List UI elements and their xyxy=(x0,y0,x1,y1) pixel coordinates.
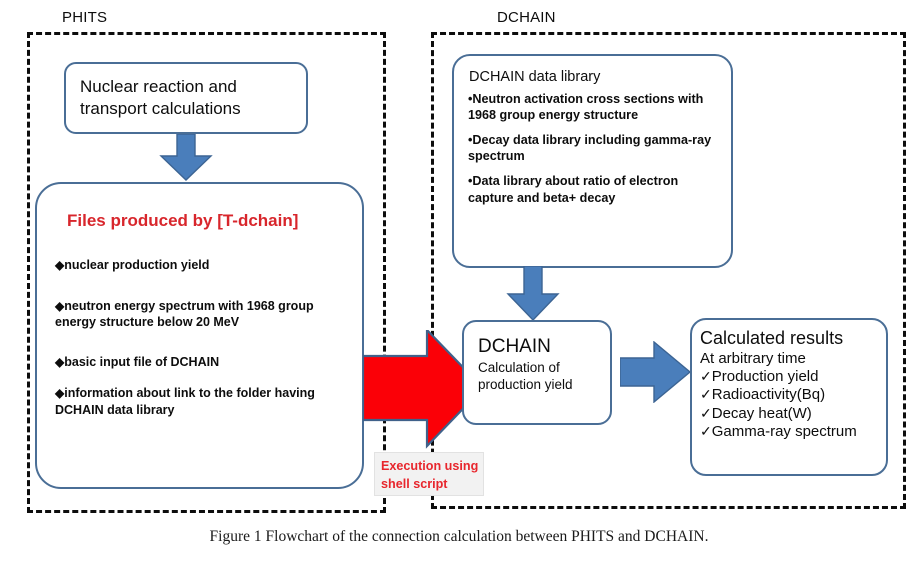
dchain-library-heading: DCHAIN data library xyxy=(469,69,719,85)
list-item: ◆neutron energy spectrum with 1968 group… xyxy=(55,298,346,331)
check-icon: ✓ xyxy=(700,368,712,384)
arrow-right-icon xyxy=(620,341,692,403)
list-item-label: Decay data library including gamma-ray s… xyxy=(468,133,711,163)
node-dchain-data-library: DCHAIN data library •Neutron activation … xyxy=(452,54,733,268)
list-item-label: neutron energy spectrum with 1968 group … xyxy=(55,299,314,330)
list-item: ◆information about link to the folder ha… xyxy=(55,385,346,418)
dchain-node-heading: DCHAIN xyxy=(478,336,610,358)
list-item: ◆nuclear production yield xyxy=(55,257,346,274)
execution-note-line2: shell script xyxy=(381,475,483,493)
list-item: ◆basic input file of DCHAIN xyxy=(55,354,346,371)
arrow-down-icon xyxy=(158,134,214,182)
list-item-label: Production yield xyxy=(712,368,819,385)
list-item-label: Gamma-ray spectrum xyxy=(712,423,857,440)
node-calculated-results: Calculated results At arbitrary time ✓Pr… xyxy=(690,318,888,476)
diamond-bullet-icon: ◆ xyxy=(55,299,64,313)
node-nuclear-reaction-line1: Nuclear reaction and xyxy=(80,76,292,98)
list-item-label: Decay heat(W) xyxy=(712,405,812,422)
list-item-label: nuclear production yield xyxy=(64,258,209,272)
list-item: ✓Radioactivity(Bq) xyxy=(700,386,886,405)
arrow-down-icon xyxy=(505,266,561,322)
dchain-library-list: •Neutron activation cross sections with … xyxy=(467,91,719,206)
node-dchain-calculation: DCHAIN Calculation of production yield xyxy=(462,320,612,425)
check-icon: ✓ xyxy=(700,405,712,421)
diamond-bullet-icon: ◆ xyxy=(55,386,64,400)
list-item-label: information about link to the folder hav… xyxy=(55,386,315,417)
list-item: ✓Gamma-ray spectrum xyxy=(700,423,886,442)
flowchart-canvas: PHITS DCHAIN Nuclear reaction and transp… xyxy=(0,0,918,570)
results-heading: Calculated results xyxy=(700,328,886,349)
files-produced-heading: Files produced by [T-dchain] xyxy=(67,211,346,231)
list-item-label: Radioactivity(Bq) xyxy=(712,386,825,403)
diamond-bullet-icon: ◆ xyxy=(55,258,64,272)
check-icon: ✓ xyxy=(700,386,712,402)
execution-note-line1: Execution using xyxy=(381,457,483,475)
list-item-label: basic input file of DCHAIN xyxy=(64,355,219,369)
check-icon: ✓ xyxy=(700,423,712,439)
dchain-node-subline1: Calculation of xyxy=(478,359,610,376)
node-files-produced: Files produced by [T-dchain] ◆nuclear pr… xyxy=(35,182,364,489)
list-item: •Data library about ratio of electron ca… xyxy=(468,173,719,205)
results-subheading: At arbitrary time xyxy=(700,350,886,368)
group-label-phits: PHITS xyxy=(62,9,107,26)
files-produced-list: ◆nuclear production yield ◆neutron energ… xyxy=(53,257,346,418)
list-item: ✓Production yield xyxy=(700,368,886,387)
execution-note: Execution using shell script xyxy=(374,452,484,496)
list-item-label: Data library about ratio of electron cap… xyxy=(468,174,678,204)
dchain-node-subline2: production yield xyxy=(478,376,610,393)
group-label-dchain: DCHAIN xyxy=(497,9,556,26)
list-item: ✓Decay heat(W) xyxy=(700,405,886,424)
diamond-bullet-icon: ◆ xyxy=(55,355,64,369)
results-list: ✓Production yield ✓Radioactivity(Bq) ✓De… xyxy=(700,368,886,442)
node-nuclear-reaction-line2: transport calculations xyxy=(80,98,292,120)
list-item-label: Neutron activation cross sections with 1… xyxy=(468,92,703,122)
list-item: •Neutron activation cross sections with … xyxy=(468,91,719,123)
list-item: •Decay data library including gamma-ray … xyxy=(468,132,719,164)
figure-caption: Figure 1 Flowchart of the connection cal… xyxy=(0,528,918,546)
node-nuclear-reaction: Nuclear reaction and transport calculati… xyxy=(64,62,308,134)
